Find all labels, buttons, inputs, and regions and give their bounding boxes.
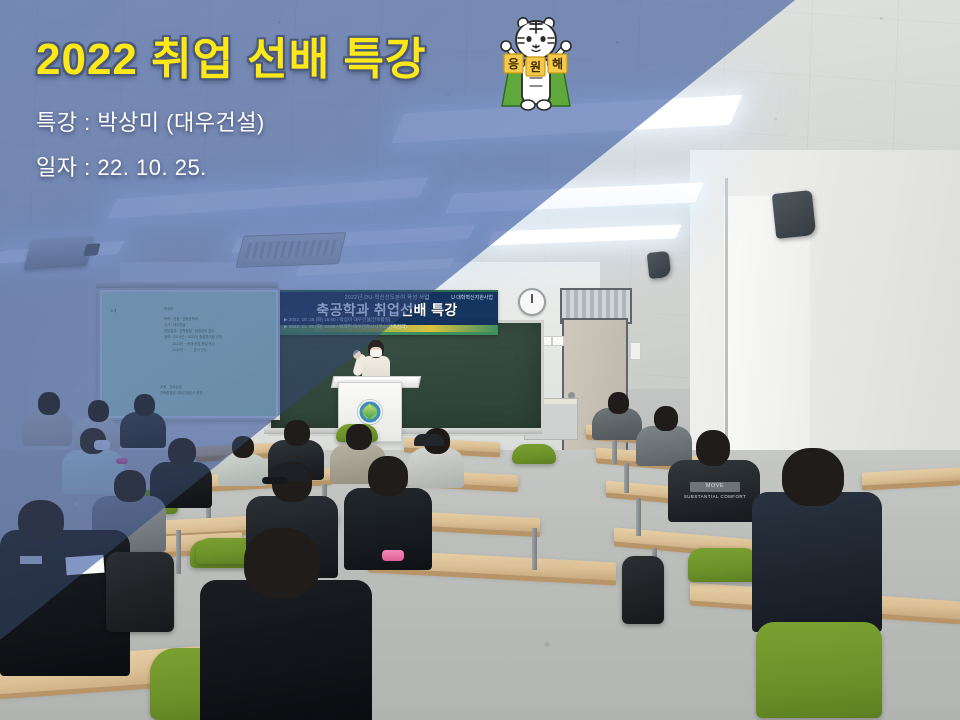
university-emblem-icon <box>357 399 383 425</box>
jacket-brand-print: MOVE <box>690 482 740 492</box>
backpack <box>106 552 174 632</box>
backpack <box>622 556 664 624</box>
air-conditioner-unit <box>235 232 346 268</box>
pencil-case <box>116 458 128 464</box>
face-mask <box>94 440 110 450</box>
ceiling-projector <box>24 236 95 270</box>
jacket-tagline-print: SUBSTANTIAL COMFORT <box>682 494 748 502</box>
student-head <box>696 430 730 466</box>
wall-notice <box>552 336 564 346</box>
desk-leg <box>624 463 629 493</box>
student-head <box>654 406 678 431</box>
student <box>200 528 372 720</box>
chair <box>688 548 758 582</box>
date-line: 일자 : 22. 10. 25. <box>36 149 426 188</box>
wall-notice <box>630 342 641 360</box>
student-head <box>168 438 196 466</box>
student-head <box>114 470 146 502</box>
pencil-case <box>382 550 404 561</box>
student <box>592 392 642 436</box>
student-cap <box>262 464 320 504</box>
slide-heading: 박상미 <box>164 306 173 312</box>
desk-leg <box>532 528 537 570</box>
student-head <box>608 392 629 414</box>
paper-handout <box>65 555 104 576</box>
wall-speaker <box>772 190 816 239</box>
slide-left-heading: 소개 <box>110 308 116 314</box>
banner-detail-line: ▶ 2022. 11. 01.(화) 15:00 / 박재현 대우건축사사무소(… <box>284 324 407 330</box>
slide-body-text: 학력 · 전공 : 건축공학과 입사 : 대우건설 담당업무 : 건축품질 · … <box>164 316 222 353</box>
presenter-face-mask <box>370 350 382 357</box>
banner-university-logo: U 대학혁신지원사업 <box>451 294 493 301</box>
white-tiger-mascot-icon: 응 원 해 <box>492 14 580 114</box>
student-head <box>38 392 60 415</box>
wall-clock <box>518 288 546 316</box>
student-head <box>232 436 254 458</box>
chair <box>756 622 882 718</box>
poster-text-block: 2022 취업 선배 특강 특강 : 박상미 (대우건설) 일자 : 22. 1… <box>36 38 426 193</box>
student-head <box>782 448 844 506</box>
student: MOVE SUBSTANTIAL COMFORT <box>668 430 760 520</box>
student-head <box>244 528 320 598</box>
student-torso <box>200 580 372 720</box>
page-title: 2022 취업 선배 특강 <box>36 38 426 82</box>
desk-leg <box>612 438 617 464</box>
student-torso <box>752 492 882 632</box>
student-head <box>346 424 372 450</box>
cap <box>414 434 444 446</box>
slide-footer-text: 교육 · 진로상담 건축품질팀 대우건설본사 현장 <box>160 384 202 396</box>
student <box>752 448 882 628</box>
paper-handout <box>20 556 42 564</box>
student-head <box>368 456 408 496</box>
svg-text:응: 응 <box>508 56 519 71</box>
svg-text:해: 해 <box>552 57 563 71</box>
cap-brim <box>262 477 288 484</box>
student-head <box>284 420 310 446</box>
svg-text:원: 원 <box>530 60 541 74</box>
student-head <box>18 500 64 542</box>
desk-leg <box>636 498 641 536</box>
poster-subtitle-block: 특강 : 박상미 (대우건설) 일자 : 22. 10. 25. <box>36 104 426 187</box>
chair <box>512 444 556 464</box>
poster-image: 2022년 DU-혁신선도분야 육성 사업 축공학과 취업선배 특강 ▶ 202… <box>0 0 960 720</box>
student-head <box>88 400 109 422</box>
presenter-hand <box>353 350 361 359</box>
event-banner: 2022년 DU-혁신선도분야 육성 사업 축공학과 취업선배 특강 ▶ 202… <box>276 290 498 335</box>
student-head <box>134 394 155 416</box>
banner-detail-line: ▶ 2022. 10. 25.(화) 15:00 / 박상미 대우건설(건축품질… <box>284 317 390 323</box>
speaker-line: 특강 : 박상미 (대우건설) <box>36 104 426 143</box>
desk-leg <box>176 530 181 574</box>
